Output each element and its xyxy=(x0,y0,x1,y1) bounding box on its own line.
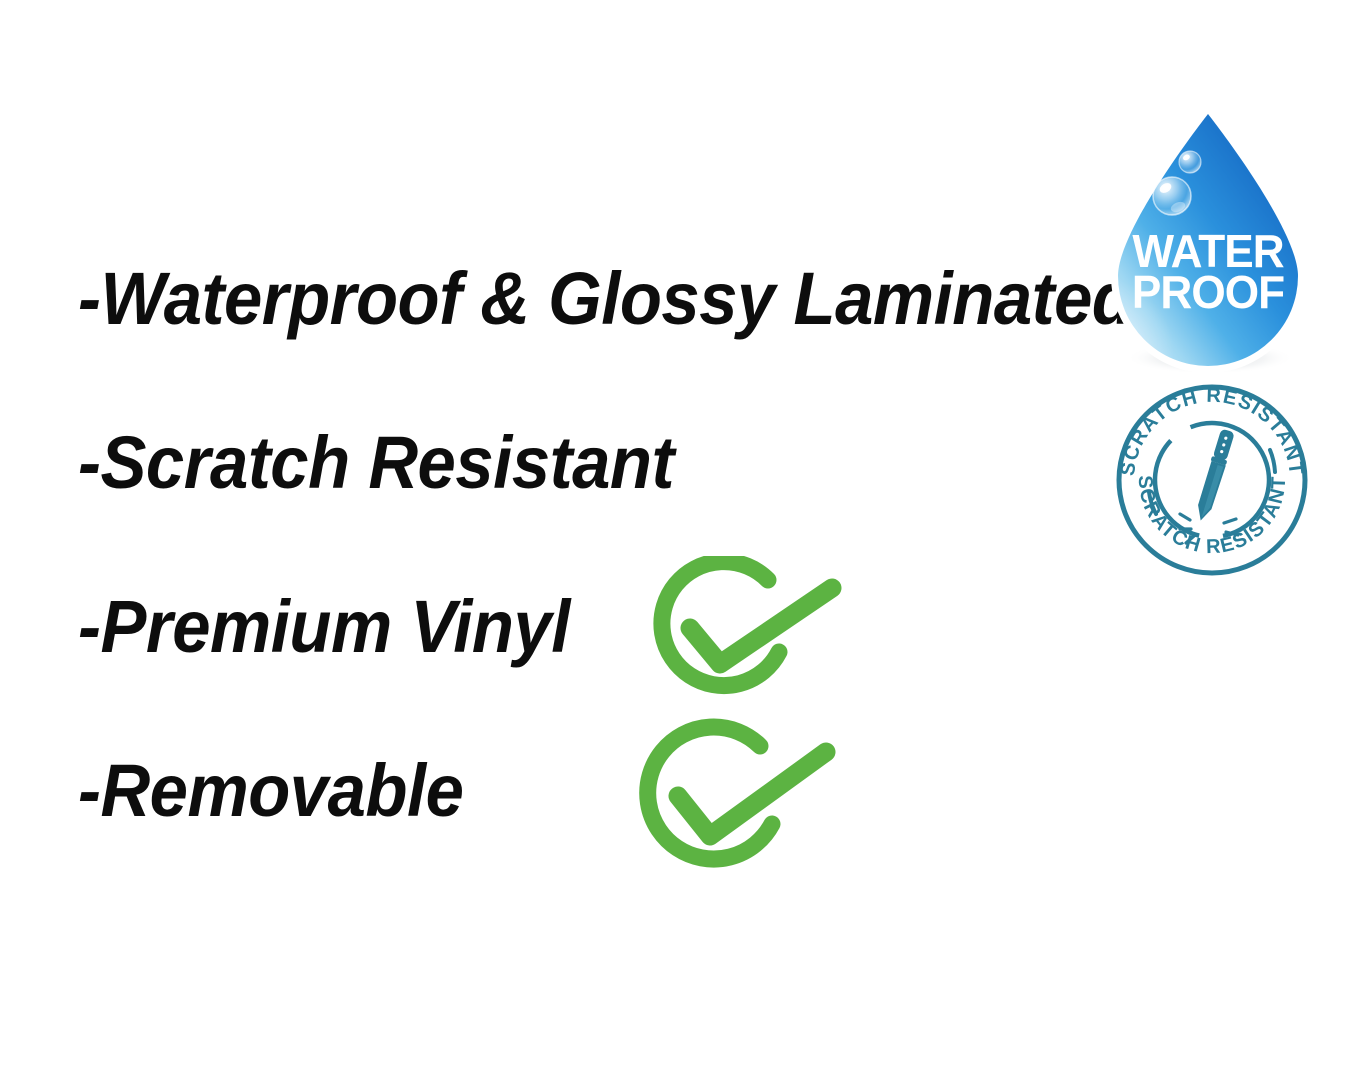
droplet-bubble-large xyxy=(1153,177,1191,215)
check-icon-premium-vinyl xyxy=(640,556,850,708)
feature-item-scratch-resistant: -Scratch Resistant xyxy=(78,426,674,500)
check-mark xyxy=(690,588,832,664)
stamp-dash-right xyxy=(1270,450,1275,472)
knife-icon xyxy=(1193,428,1236,523)
feature-item-waterproof-glossy-laminated: -Waterproof & Glossy Laminated xyxy=(78,262,1133,336)
feature-list: -Waterproof & Glossy Laminated -Scratch … xyxy=(0,0,1100,1080)
scratch-resistant-badge: SCRATCH RESISTANT SCRATCH RESISTANT xyxy=(1112,380,1312,580)
feature-item-removable: -Removable xyxy=(78,754,463,828)
feature-graphic-canvas: -Waterproof & Glossy Laminated -Scratch … xyxy=(0,0,1359,1080)
waterproof-badge: WATER PROOF xyxy=(1098,100,1320,372)
waterproof-line2: PROOF xyxy=(1132,266,1284,318)
feature-item-premium-vinyl: -Premium Vinyl xyxy=(78,590,570,664)
check-icon-removable xyxy=(630,716,844,888)
droplet-bubble-small xyxy=(1179,151,1201,173)
check-mark xyxy=(678,752,826,836)
